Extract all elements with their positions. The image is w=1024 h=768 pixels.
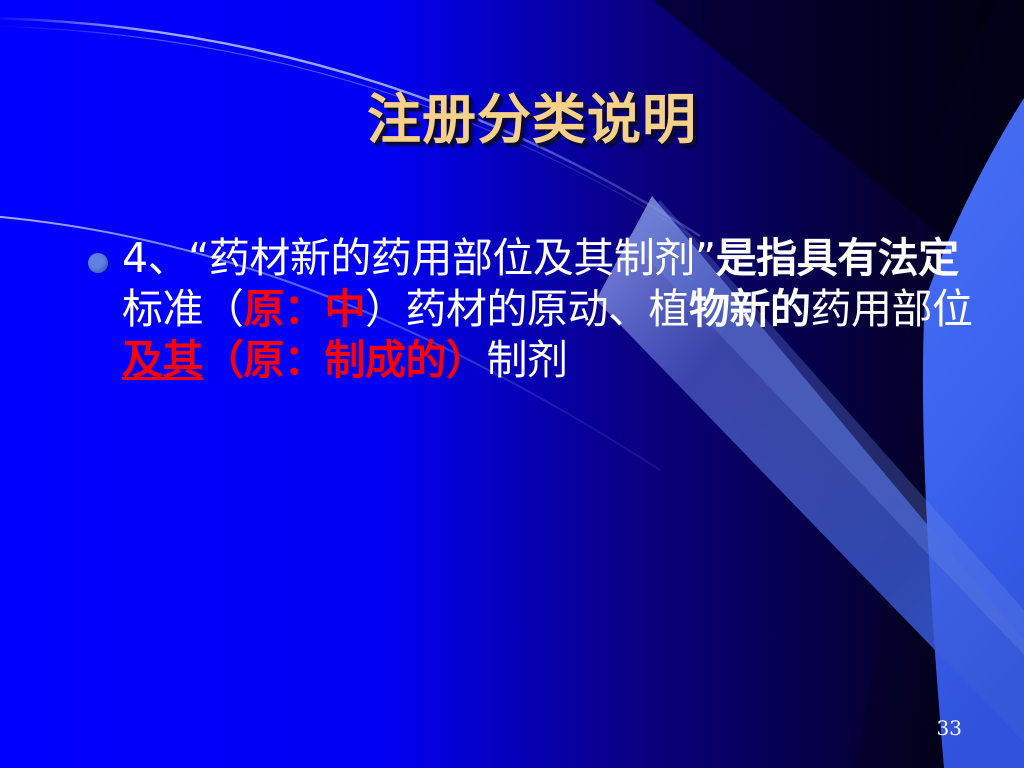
text-run-1: 4、“药材新的药用部位及其制剂” (122, 234, 716, 282)
title-block: 注册分类说明 (0, 92, 1024, 149)
text-run-5: ）药材的原动、植 (365, 285, 689, 333)
bullet-list-item: 4、“药材新的药用部位及其制剂”是指具有法定标准（原：中）药材的原动、植物新的药… (86, 233, 986, 386)
body-content-block: 4、“药材新的药用部位及其制剂”是指具有法定标准（原：中）药材的原动、植物新的药… (86, 233, 986, 386)
text-run-2: 是指具有法定 (716, 234, 959, 282)
text-run-7: 药用部位 (811, 285, 973, 333)
slide-canvas: 注册分类说明 4、“药材新的药用部位及其制剂”是指具有法定标准（原：中）药材的原… (0, 0, 1024, 768)
bullet-item-text: 4、“药材新的药用部位及其制剂”是指具有法定标准（原：中）药材的原动、植物新的药… (86, 233, 986, 386)
text-run-8-red-underline: 及其 (122, 336, 203, 384)
text-run-3: 标准（ (122, 285, 244, 333)
filled-circle-bullet-icon (88, 253, 108, 273)
text-run-6: 物新的 (689, 285, 811, 333)
text-run-4-red: 原：中 (244, 285, 366, 333)
text-run-10: 制剂 (487, 336, 568, 384)
page-title: 注册分类说明 (327, 92, 697, 149)
page-number: 33 (937, 716, 962, 740)
text-run-9-red: （原：制成的） (203, 336, 487, 384)
